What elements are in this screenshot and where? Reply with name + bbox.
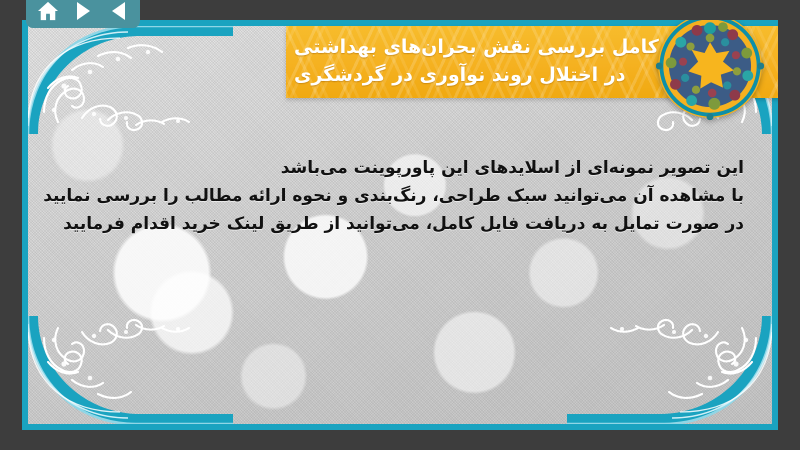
home-button[interactable] [35, 0, 61, 22]
slide-navigation-panel [26, 0, 140, 28]
arabesque-corner-ornament-top-left [28, 26, 233, 134]
presentation-viewer: کامل بررسی نقش بحران‌های بهداشتی در اختل… [0, 0, 800, 450]
next-slide-button[interactable] [70, 0, 96, 22]
persian-ornament-medallion-icon [656, 20, 764, 120]
previous-slide-button[interactable] [105, 0, 131, 22]
previous-slide-icon [112, 2, 125, 20]
arabesque-corner-ornament-bottom-right [567, 316, 772, 424]
next-slide-icon [77, 2, 90, 20]
slide-body-line-3: در صورت تمایل به دریافت فایل کامل، می‌تو… [88, 210, 744, 238]
slide-body-line-2: با مشاهده آن می‌توانید سبک طراحی، رنگ‌بن… [88, 182, 744, 210]
slide-body-text: این تصویر نمونه‌ای از اسلایدهای این پاور… [88, 154, 744, 238]
slide-title-line-1: کامل بررسی نقش بحران‌های بهداشتی [294, 34, 659, 62]
arabesque-corner-ornament-bottom-left [28, 316, 233, 424]
home-icon [37, 1, 59, 21]
slide-title-line-2: در اختلال روند نوآوری در گردشگری [294, 62, 626, 90]
slide-body-line-1: این تصویر نمونه‌ای از اسلایدهای این پاور… [88, 154, 744, 182]
slide-background: کامل بررسی نقش بحران‌های بهداشتی در اختل… [28, 26, 772, 424]
slide-canvas: کامل بررسی نقش بحران‌های بهداشتی در اختل… [22, 20, 778, 430]
